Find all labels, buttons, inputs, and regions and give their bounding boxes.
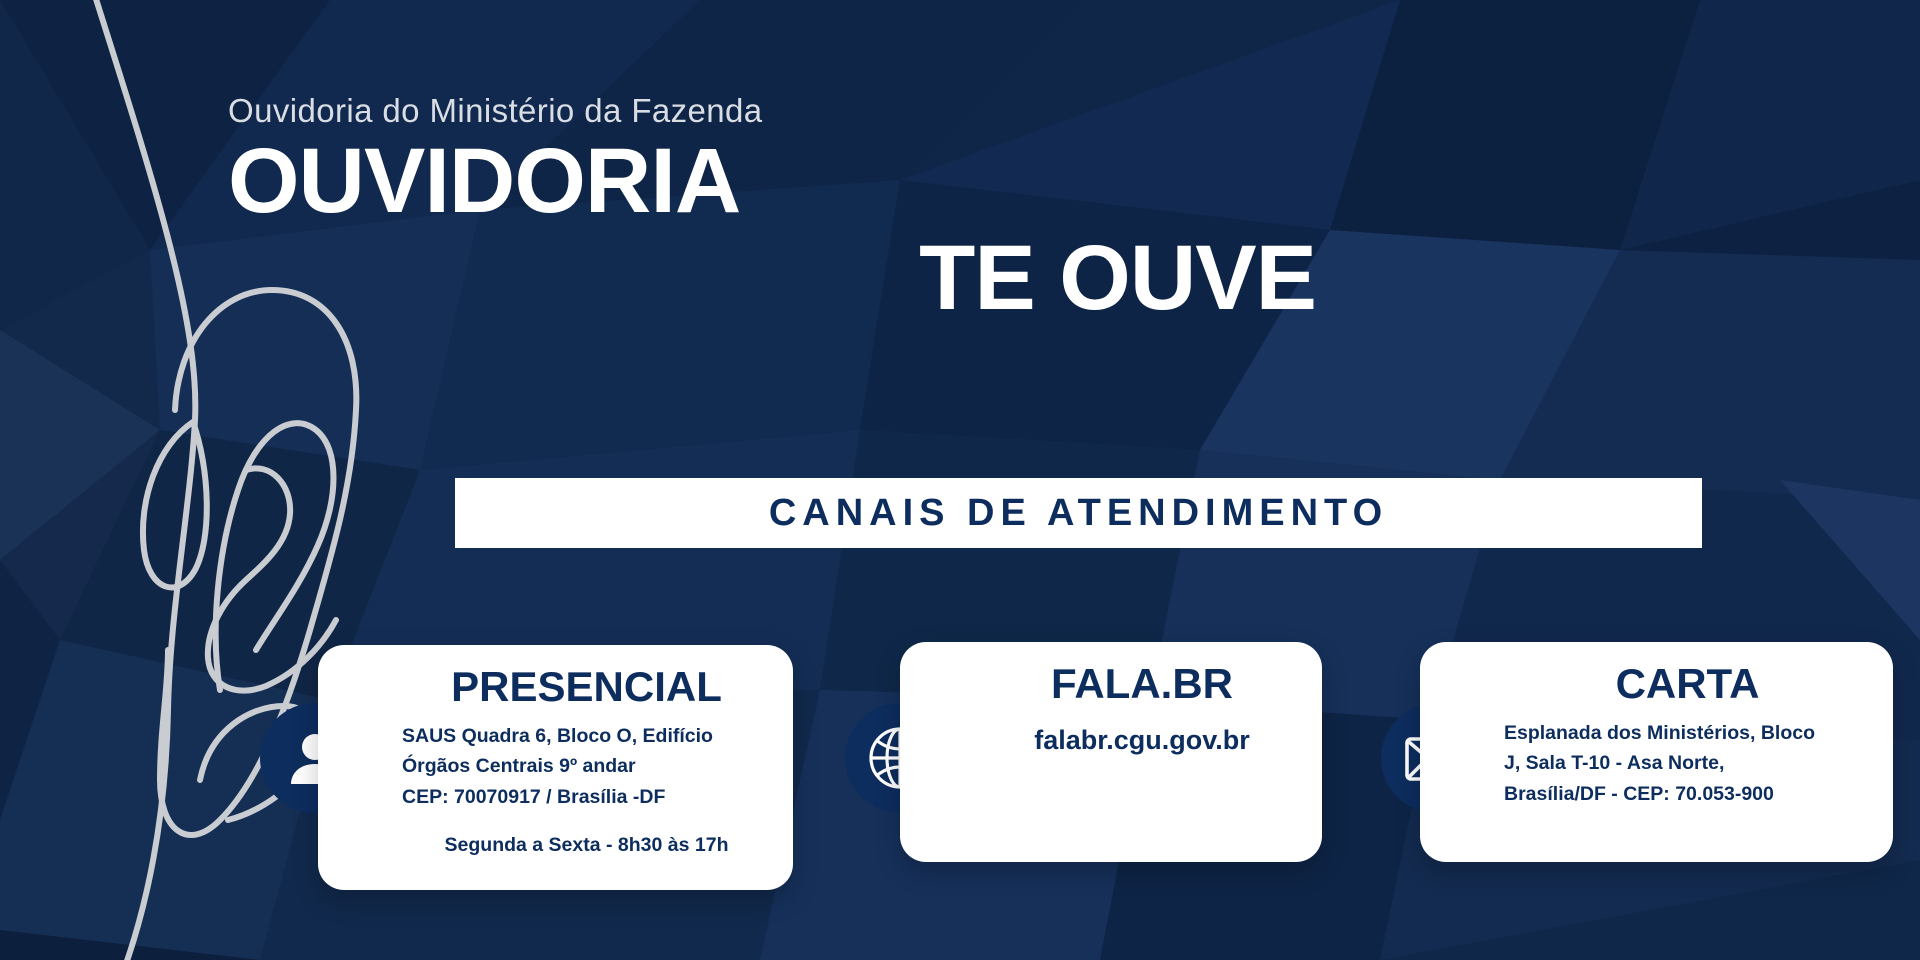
page-title-line-2: TE OUVE <box>228 232 1348 324</box>
card-line: SAUS Quadra 6, Bloco O, Edifício <box>402 721 771 751</box>
card-hours: Segunda a Sexta - 8h30 às 17h <box>402 830 771 860</box>
page-title-line-1: OUVIDORIA <box>228 136 1348 226</box>
channel-card-carta[interactable]: CARTA Esplanada dos Ministérios, Bloco J… <box>1420 642 1893 862</box>
card-line: Esplanada dos Ministérios, Bloco <box>1504 718 1871 748</box>
card-address-lines: Esplanada dos Ministérios, Bloco J, Sala… <box>1504 718 1871 809</box>
card-title: CARTA <box>1504 662 1871 706</box>
brand-subtitle: Ouvidoria do Ministério da Fazenda <box>228 92 1348 130</box>
card-line: CEP: 70070917 / Brasília -DF <box>402 782 771 812</box>
poster-canvas: Ouvidoria do Ministério da Fazenda OUVID… <box>0 0 1920 960</box>
card-url-link[interactable]: falabr.cgu.gov.br <box>984 720 1300 762</box>
card-title: FALA.BR <box>984 662 1300 706</box>
section-banner-label: CANAIS DE ATENDIMENTO <box>769 492 1388 535</box>
header-block: Ouvidoria do Ministério da Fazenda OUVID… <box>228 92 1348 324</box>
card-line: Brasília/DF - CEP: 70.053-900 <box>1504 779 1871 809</box>
channel-card-presencial[interactable]: PRESENCIAL SAUS Quadra 6, Bloco O, Edifí… <box>318 645 793 890</box>
card-line: Órgãos Centrais 9º andar <box>402 751 771 781</box>
channel-card-falabr[interactable]: FALA.BR falabr.cgu.gov.br <box>900 642 1322 862</box>
card-address-lines: SAUS Quadra 6, Bloco O, Edifício Órgãos … <box>402 721 771 860</box>
card-line: J, Sala T-10 - Asa Norte, <box>1504 748 1871 778</box>
card-title: PRESENCIAL <box>402 665 771 709</box>
section-banner: CANAIS DE ATENDIMENTO <box>455 478 1702 548</box>
